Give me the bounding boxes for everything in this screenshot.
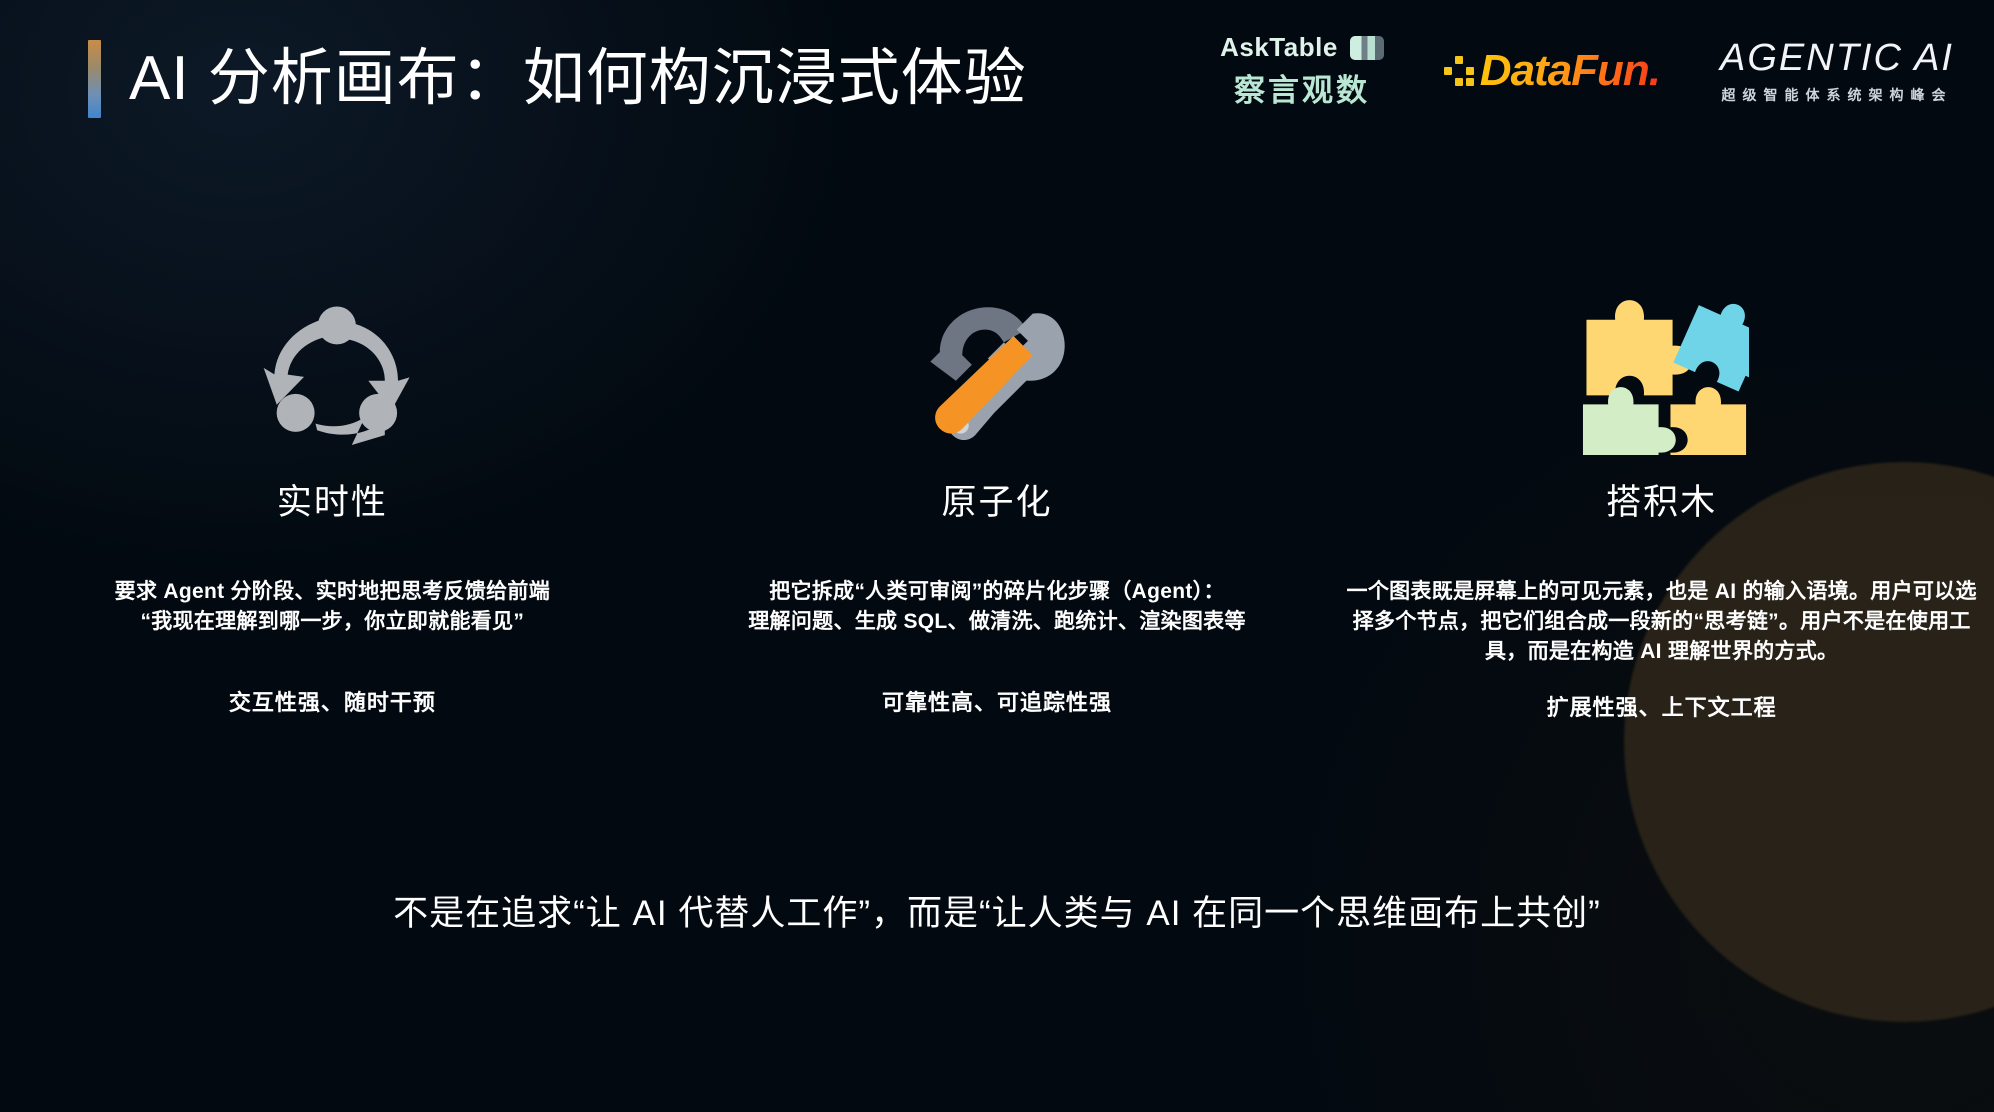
asktable-wordmark-row: AskTable <box>1220 32 1384 63</box>
column-description: 把它拆成“人类可审阅”的碎片化步骤（Agent）： 理解问题、生成 SQL、做清… <box>748 577 1246 637</box>
column-title: 实时性 <box>277 474 388 525</box>
slide-root: AI 分析画布：如何构沉浸式体验 AskTable 察言观数 DataFun. <box>0 0 1994 1112</box>
datafun-wordmark: DataFun. <box>1480 46 1660 96</box>
asktable-grid-icon <box>1350 36 1384 60</box>
feature-column-atomic: 原子化 把它拆成“人类可审阅”的碎片化步骤（Agent）： 理解问题、生成 SQ… <box>665 275 1330 722</box>
page-title: AI 分析画布：如何构沉浸式体验 <box>129 48 1027 110</box>
logo-asktable: AskTable 察言观数 <box>1220 32 1384 110</box>
datafun-dots-icon <box>1444 56 1474 86</box>
accent-bar-icon <box>88 40 101 118</box>
cycle-arrows-icon <box>247 275 417 460</box>
column-description: 一个图表既是屏幕上的可见元素，也是 AI 的输入语境。用户可以选择多个节点，把它… <box>1342 577 1982 666</box>
column-title: 搭积木 <box>1606 474 1717 525</box>
agentic-chinese-subtitle: 超级智能体系统架构峰会 <box>1722 85 1953 105</box>
column-tag: 扩展性强、上下文工程 <box>1547 690 1777 722</box>
feature-column-realtime: 实时性 要求 Agent 分阶段、实时地把思考反馈给前端 “我现在理解到哪一步，… <box>0 275 665 722</box>
agentic-wordmark: AGENTIC AI <box>1720 37 1954 80</box>
slide-footnote: 不是在追求“让 AI 代替人工作”，而是“让人类与 AI 在同一个思维画布上共创… <box>0 885 1994 936</box>
logo-datafun: DataFun. <box>1444 46 1660 96</box>
logo-strip: AskTable 察言观数 DataFun. AGENTIC AI 超级智能体系… <box>1220 32 1954 110</box>
feature-columns: 实时性 要求 Agent 分阶段、实时地把思考反馈给前端 “我现在理解到哪一步，… <box>0 275 1994 722</box>
hammer-wrench-icon <box>910 275 1085 460</box>
feature-column-building-blocks: 搭积木 一个图表既是屏幕上的可见元素，也是 AI 的输入语境。用户可以选择多个节… <box>1329 275 1994 722</box>
column-tag: 交互性强、随时干预 <box>229 685 436 717</box>
logo-agentic-ai: AGENTIC AI 超级智能体系统架构峰会 <box>1720 37 1954 105</box>
slide-header: AI 分析画布：如何构沉浸式体验 AskTable 察言观数 DataFun. <box>0 0 1994 170</box>
column-tag: 可靠性高、可追踪性强 <box>882 685 1112 717</box>
column-description: 要求 Agent 分阶段、实时地把思考反馈给前端 “我现在理解到哪一步，你立即就… <box>115 577 550 637</box>
column-title: 原子化 <box>942 474 1053 525</box>
puzzle-pieces-icon <box>1574 275 1749 460</box>
asktable-wordmark: AskTable <box>1220 32 1338 63</box>
title-group: AI 分析画布：如何构沉浸式体验 <box>88 40 1027 118</box>
asktable-chinese-name: 察言观数 <box>1234 65 1370 110</box>
